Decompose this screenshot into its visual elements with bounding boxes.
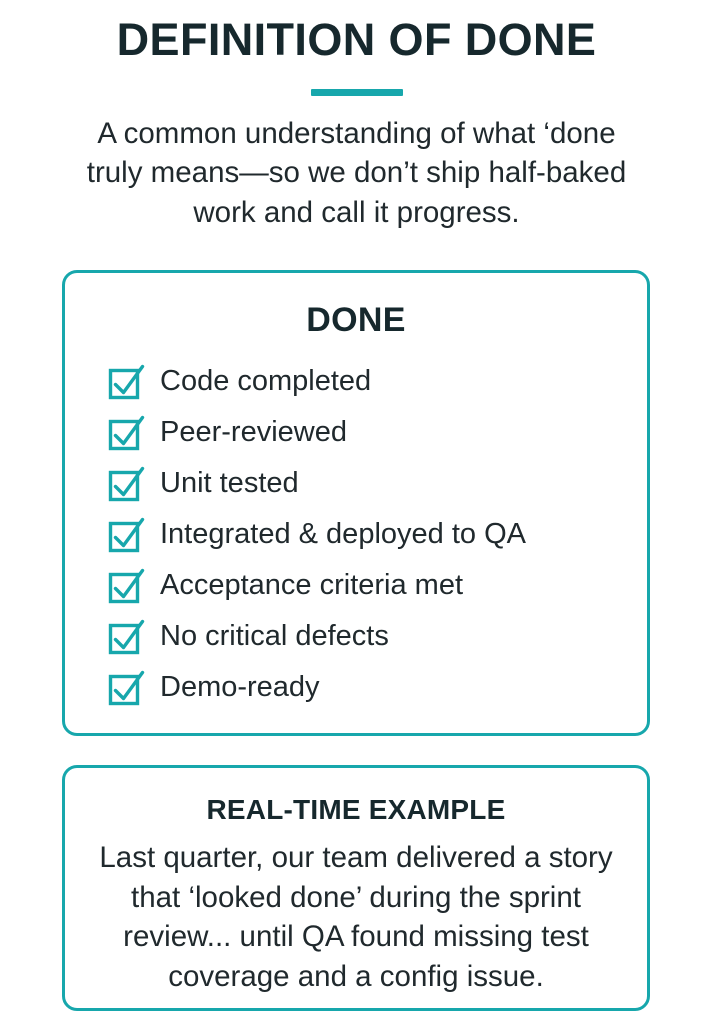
checklist-item-label: Peer-reviewed [160, 418, 347, 447]
page-title: DEFINITION OF DONE [28, 16, 685, 63]
checklist-item-label: Demo-ready [160, 673, 320, 702]
checklist-item[interactable]: Integrated & deployed to QA [106, 509, 647, 560]
checklist-item[interactable]: Unit tested [106, 458, 647, 509]
accent-divider [311, 89, 403, 96]
checklist-item-label: Integrated & deployed to QA [160, 520, 526, 549]
infographic-page: DEFINITION OF DONE A common understandin… [0, 0, 713, 1023]
checklist-item-label: Code completed [160, 367, 371, 396]
page-header: DEFINITION OF DONE A common understandin… [0, 0, 713, 232]
done-card: DONE Code completedPeer-reviewedUnit tes… [62, 270, 650, 736]
checklist-item[interactable]: No critical defects [106, 611, 647, 662]
checkbox-checked-icon [106, 362, 146, 402]
checkbox-checked-icon [106, 515, 146, 555]
checkbox-checked-icon [106, 413, 146, 453]
example-card-body: Last quarter, our team delivered a story… [86, 838, 626, 996]
done-card-title: DONE [65, 273, 647, 340]
checklist-item[interactable]: Peer-reviewed [106, 407, 647, 458]
checklist-item[interactable]: Code completed [106, 356, 647, 407]
real-time-example-card: REAL-TIME EXAMPLE Last quarter, our team… [62, 765, 650, 1011]
checkbox-checked-icon [106, 464, 146, 504]
checklist-item-label: Unit tested [160, 469, 299, 498]
checklist-item[interactable]: Demo-ready [106, 662, 647, 713]
example-card-title: REAL-TIME EXAMPLE [65, 768, 647, 826]
checklist-item-label: Acceptance criteria met [160, 571, 463, 600]
checkbox-checked-icon [106, 668, 146, 708]
checkbox-checked-icon [106, 617, 146, 657]
checklist-item[interactable]: Acceptance criteria met [106, 560, 647, 611]
done-checklist: Code completedPeer-reviewedUnit testedIn… [65, 356, 647, 713]
checkbox-checked-icon [106, 566, 146, 606]
page-subtitle: A common understanding of what ‘done tru… [77, 114, 637, 232]
checklist-item-label: No critical defects [160, 622, 389, 651]
